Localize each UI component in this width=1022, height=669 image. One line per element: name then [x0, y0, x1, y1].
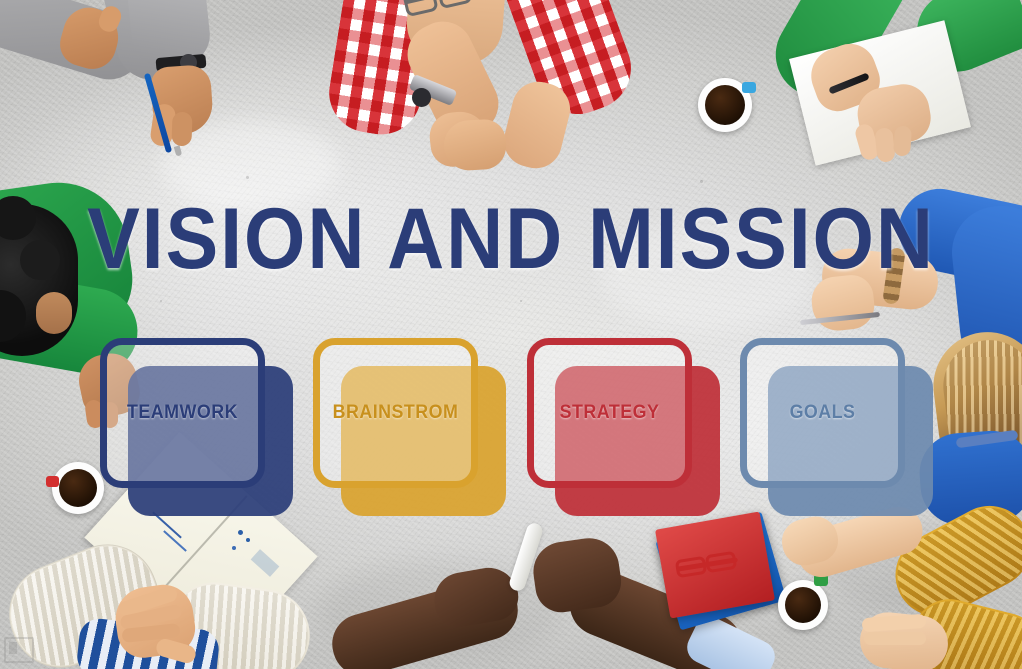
watch-face-silver [412, 88, 431, 107]
surface-speck [520, 300, 522, 302]
finger-middle [171, 112, 192, 147]
fist-checkered-right [443, 118, 508, 171]
surface-speck [246, 176, 249, 179]
surface-speck [700, 180, 703, 183]
notebook-note-dot [232, 546, 236, 550]
coffee-cup-bottom-right [778, 580, 828, 630]
cup-handle-blue [742, 82, 756, 93]
card-label-strategy: STRATEGY [532, 338, 687, 488]
concept-card-strategy[interactable]: STRATEGY [527, 338, 692, 488]
notebook-note-dot [238, 530, 243, 535]
page-title: VISION AND MISSION [41, 196, 981, 282]
card-label-goals: GOALS [745, 338, 900, 488]
card-label-teamwork: TEAMWORK [105, 338, 260, 488]
concept-photo-stage: VISION AND MISSION TEAMWORK BRAINSTROM S… [0, 0, 1022, 669]
coffee-cup-top-right [698, 78, 752, 132]
finger-green-c [893, 125, 912, 156]
notebook-note-dot [246, 538, 250, 542]
coffee-liquid [705, 85, 745, 125]
coffee-cup-left [52, 462, 104, 514]
concept-card-teamwork[interactable]: TEAMWORK [100, 338, 265, 488]
coffee-liquid [785, 587, 821, 623]
concept-card-brainstrom[interactable]: BRAINSTROM [313, 338, 478, 488]
finger-mustard-b [864, 632, 926, 645]
forehead-green-left [36, 292, 72, 334]
card-label-brainstrom: BRAINSTROM [318, 338, 473, 488]
surface-speck [160, 300, 162, 302]
coffee-liquid [59, 469, 97, 507]
cup-handle-red [46, 476, 59, 487]
watermark-icon [4, 637, 34, 663]
concept-card-goals[interactable]: GOALS [740, 338, 905, 488]
